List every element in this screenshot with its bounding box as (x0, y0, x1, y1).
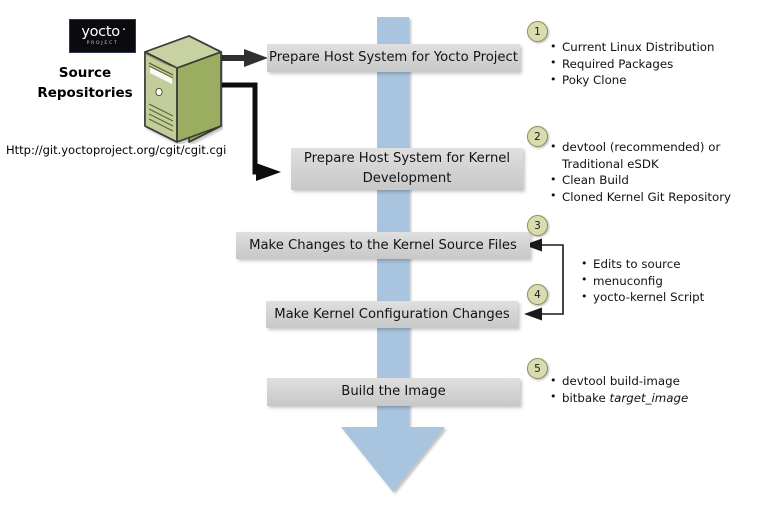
list-item: devtool (recommended) or Traditional eSD… (550, 139, 742, 172)
list-item: yocto-kernel Script (581, 289, 704, 306)
step-badge-4-number: 4 (534, 289, 541, 301)
server-icon (133, 34, 223, 144)
source-repositories-label: Source Repositories (26, 63, 144, 103)
source-repositories-url: Http://git.yoctoproject.org/cgit/cgit.cg… (6, 143, 226, 157)
process-box-prepare-host-yocto[interactable]: Prepare Host System for Yocto Project (267, 44, 520, 72)
process-box-2-label-line1: Prepare Host System for Kernel (304, 151, 510, 166)
process-box-make-kernel-source-changes[interactable]: Make Changes to the Kernel Source Files (236, 232, 530, 259)
source-repositories-label-line1: Source (26, 63, 144, 83)
step-badge-5-number: 5 (534, 363, 541, 375)
bitbake-command-prefix: bitbake (562, 391, 610, 405)
step-badge-2-number: 2 (534, 131, 541, 143)
process-box-prepare-host-kernel[interactable]: Prepare Host System for Kernel Developme… (291, 148, 523, 190)
step-badge-3: 3 (527, 215, 548, 236)
list-item: Cloned Kernel Git Repository (550, 189, 750, 206)
process-box-build-the-image[interactable]: Build the Image (267, 378, 520, 406)
process-box-4-label: Make Kernel Configuration Changes (274, 305, 510, 325)
step-1-bullet-list: Current Linux Distribution Required Pack… (550, 39, 714, 89)
list-item: bitbake target_image (550, 390, 688, 407)
process-box-3-label: Make Changes to the Kernel Source Files (249, 236, 517, 256)
yocto-project-logo: yocto· PROJECT (69, 19, 136, 53)
process-box-1-label: Prepare Host System for Yocto Project (269, 48, 518, 68)
list-item: devtool build-image (550, 373, 688, 390)
steps-3-4-shared-bullet-list: Edits to source menuconfig yocto-kernel … (581, 256, 704, 306)
list-item: Required Packages (550, 56, 714, 73)
step-badge-2: 2 (527, 126, 548, 147)
step-badge-1: 1 (527, 21, 548, 42)
step-5-bullet-list: devtool build-image bitbake target_image (550, 373, 688, 406)
list-item: Clean Build (550, 172, 750, 189)
step-badge-3-number: 3 (534, 220, 541, 232)
process-box-5-label: Build the Image (341, 382, 445, 402)
list-item: Poky Clone (550, 72, 714, 89)
yocto-logo-subtitle: PROJECT (87, 42, 119, 47)
step-badge-1-number: 1 (534, 26, 541, 38)
list-item: menuconfig (581, 273, 704, 290)
step-badge-4: 4 (527, 284, 548, 305)
process-box-2-label-line2: Development (363, 171, 452, 186)
process-box-make-kernel-config-changes[interactable]: Make Kernel Configuration Changes (266, 301, 518, 328)
source-repositories-label-line2: Repositories (26, 83, 144, 103)
step-badge-5: 5 (527, 358, 548, 379)
yocto-logo-wordmark: yocto· (81, 25, 123, 40)
list-item: Edits to source (581, 256, 704, 273)
process-box-2-label: Prepare Host System for Kernel Developme… (304, 149, 510, 189)
list-item: Current Linux Distribution (550, 39, 714, 56)
diagram-canvas: yocto· PROJECT Source Repositories Http:… (0, 0, 769, 517)
yocto-logo-word-text: yocto (81, 24, 119, 40)
step-2-bullet-list: devtool (recommended) or Traditional eSD… (550, 139, 750, 205)
bitbake-target-image-arg: target_image (610, 391, 689, 405)
yocto-logo-dot: · (122, 23, 126, 38)
